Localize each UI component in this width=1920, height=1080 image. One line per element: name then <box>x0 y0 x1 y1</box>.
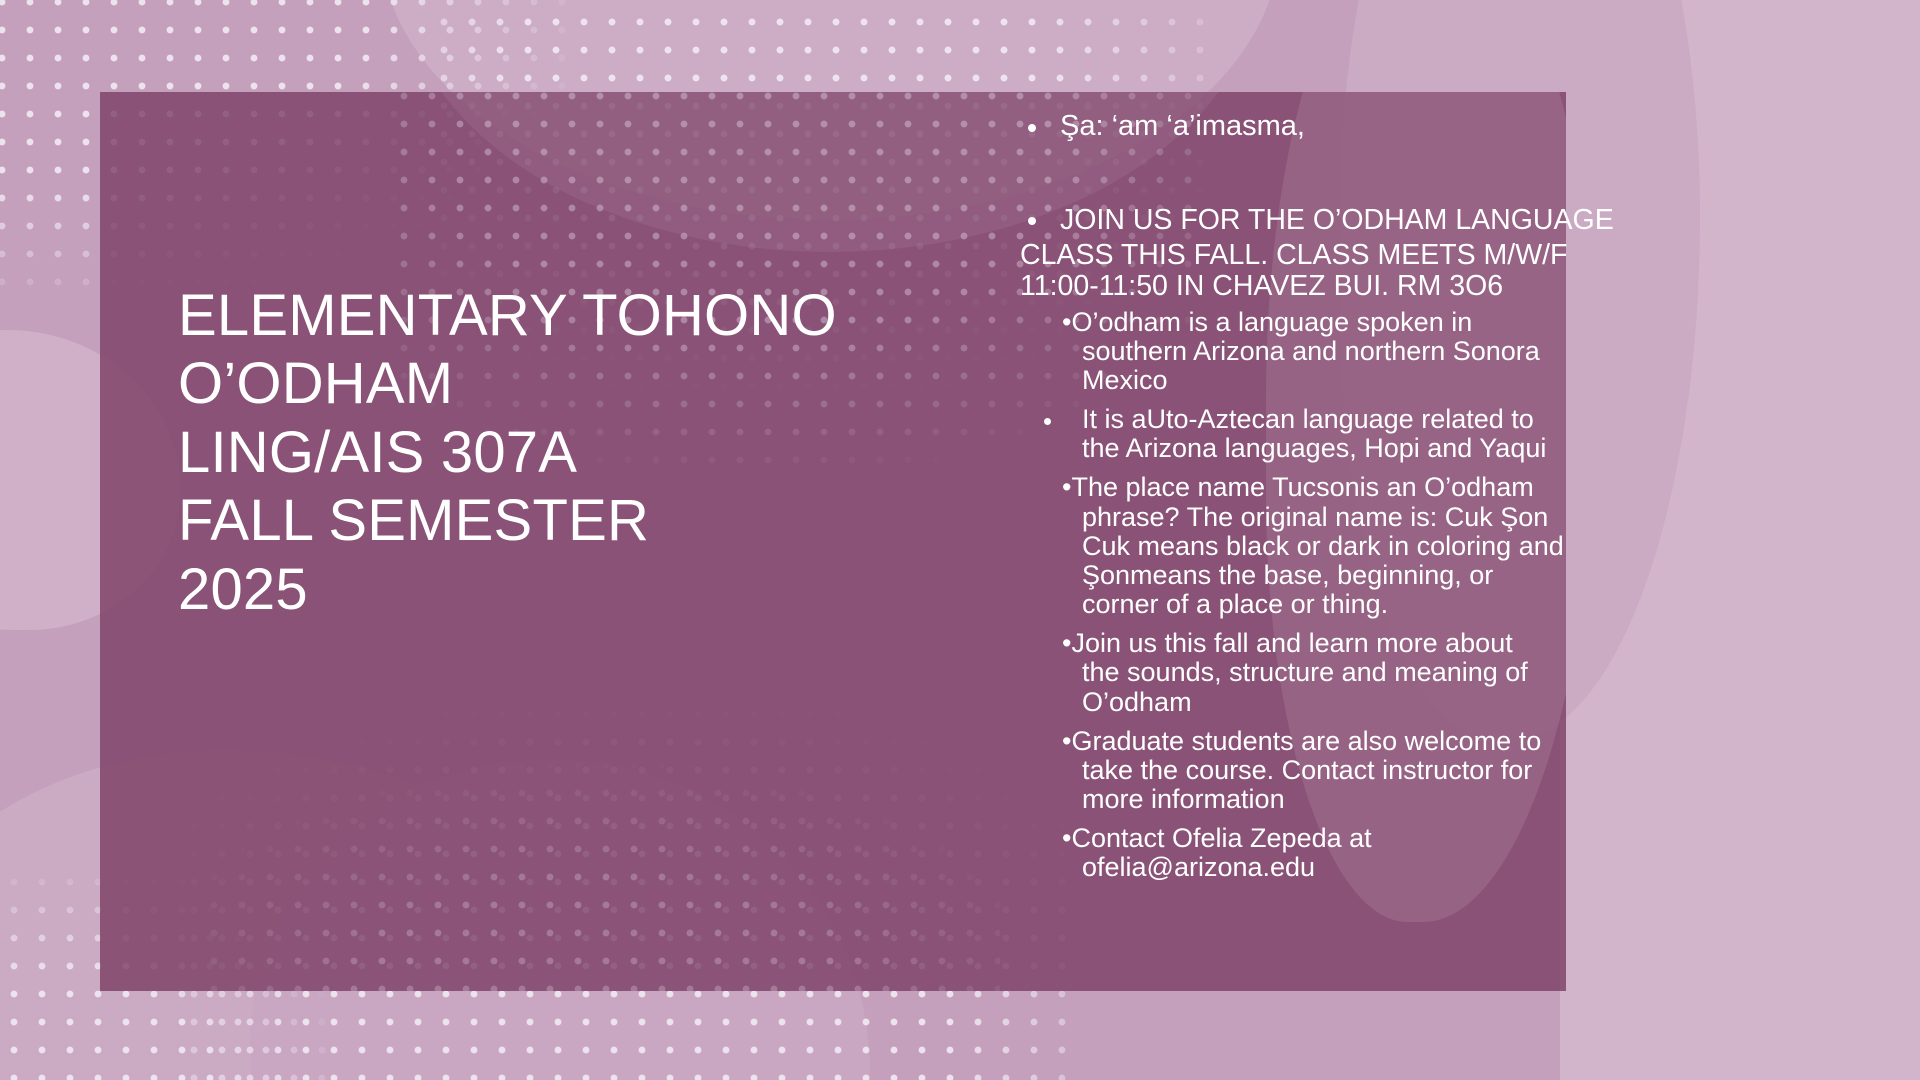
title-line-1: ELEMENTARY TOHONO <box>178 282 878 350</box>
list-item: •Contact Ofelia Zepeda at ofelia@arizona… <box>1020 824 1720 882</box>
title-line-4: FALL SEMESTER <box>178 487 878 555</box>
greeting-text: Şa: ‘am ‘a’imasma, <box>1060 110 1305 142</box>
bullet-line: It is aUto-Aztecan language related to <box>1082 404 1534 434</box>
bullet-line: take the course. Contact instructor for <box>1082 755 1532 785</box>
panel-dot-pattern-bottom <box>200 751 1000 991</box>
bullet-line: more information <box>1082 784 1285 814</box>
bullet-dot-icon <box>1028 217 1036 225</box>
list-item: •Graduate students are also welcome to t… <box>1020 727 1720 814</box>
bullet-line: ofelia@arizona.edu <box>1082 852 1315 882</box>
presentation-slide: ELEMENTARY TOHONO O’ODHAM LING/AIS 307A … <box>0 0 1920 1080</box>
bullet-line: the sounds, structure and meaning of <box>1082 657 1528 687</box>
bullet-line: •The place name Tucsonis an O’odham <box>1062 472 1534 502</box>
title-line-2: O’ODHAM <box>178 350 878 418</box>
title-line-5: 2025 <box>178 556 878 624</box>
bullet-line: •Graduate students are also welcome to <box>1062 726 1541 756</box>
bullet-line: •Contact Ofelia Zepeda at <box>1062 823 1372 853</box>
list-item: It is aUto-Aztecan language related to t… <box>1020 405 1720 463</box>
list-item: •Join us this fall and learn more about … <box>1020 629 1720 716</box>
announcement-line-2: CLASS THIS FALL. CLASS MEETS M/W/F <box>1020 240 1720 271</box>
bullet-dot-icon <box>1028 124 1036 132</box>
bullet-line: the Arizona languages, Hopi and Yaqui <box>1082 433 1546 463</box>
bullet-line: southern Arizona and northern Sonora <box>1082 336 1540 366</box>
bullet-line: Mexico <box>1082 365 1168 395</box>
announcement-line-1: JOIN US FOR THE O’ODHAM LANGUAGE <box>1060 204 1614 236</box>
bullet-line: phrase? The original name is: Cuk Şon <box>1082 502 1548 532</box>
announcement-bullet: JOIN US FOR THE O’ODHAM LANGUAGE CLASS T… <box>1020 200 1720 302</box>
bullet-dot-icon <box>1044 418 1051 425</box>
detail-bullet-list: •O’odham is a language spoken in souther… <box>1020 308 1720 883</box>
list-item: •The place name Tucsonis an O’odham phra… <box>1020 473 1720 619</box>
title-line-3: LING/AIS 307A <box>178 419 878 487</box>
greeting-bullet: Şa: ‘am ‘a’imasma, <box>1020 108 1720 146</box>
slide-title: ELEMENTARY TOHONO O’ODHAM LING/AIS 307A … <box>178 282 878 624</box>
announcement-line-3: 11:00-11:50 IN CHAVEZ BUI. RM 3O6 <box>1020 271 1720 302</box>
bullet-line: •Join us this fall and learn more about <box>1062 628 1513 658</box>
list-item: •O’odham is a language spoken in souther… <box>1020 308 1720 395</box>
bullet-line: Şonmeans the base, beginning, or <box>1082 560 1493 590</box>
bullet-line: corner of a place or thing. <box>1082 589 1388 619</box>
body-spacer <box>1020 152 1720 200</box>
bullet-line: •O’odham is a language spoken in <box>1062 307 1472 337</box>
bullet-line: Cuk means black or dark in coloring and <box>1082 531 1564 561</box>
slide-body: Şa: ‘am ‘a’imasma, JOIN US FOR THE O’ODH… <box>1020 108 1720 893</box>
bullet-line: O’odham <box>1082 687 1192 717</box>
